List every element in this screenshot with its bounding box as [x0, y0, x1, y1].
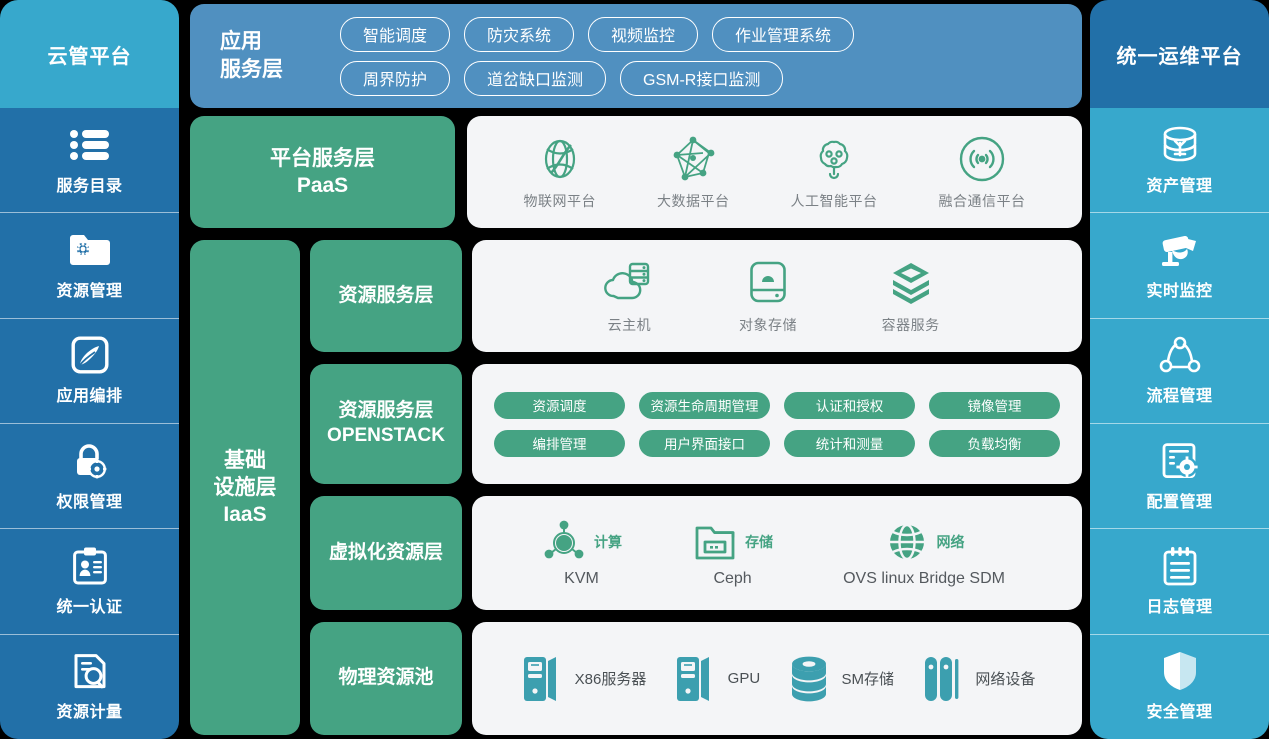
app-title-line1: 应用 [220, 28, 340, 56]
sidebar-item-label: 应用编排 [56, 382, 122, 406]
app-pill-work-management[interactable]: 作业管理系统 [712, 17, 854, 52]
network-device-icon [919, 652, 965, 706]
storage-folder-icon [692, 518, 738, 566]
cctv-camera-icon [1157, 230, 1203, 270]
virtualization-item-name: KVM [564, 570, 599, 588]
openstack-label-line2: OPENSTACK [327, 424, 445, 449]
container-stack-icon [887, 257, 935, 309]
ops-item-label: 流程管理 [1146, 382, 1212, 406]
right-sidebar-title: 统一运维平台 [1090, 0, 1269, 108]
ops-item-config-management[interactable]: 配置管理 [1090, 423, 1269, 528]
document-gear-icon [1160, 441, 1200, 481]
paas-label-line1: 平台服务层 [270, 145, 375, 172]
physical-resource-pool-label: 物理资源池 [310, 622, 462, 735]
openstack-pill-lifecycle-management[interactable]: 资源生命周期管理 [639, 392, 770, 419]
iaas-label-line3: IaaS [214, 501, 277, 528]
app-pill-switch-gap-monitoring[interactable]: 道岔缺口监测 [464, 61, 606, 96]
disk-stack-icon [786, 652, 832, 706]
pen-square-icon [71, 335, 109, 375]
sidebar-item-app-orchestration[interactable]: 应用编排 [0, 318, 179, 423]
iaas-label-line2: 设施层 [214, 474, 277, 501]
openstack-pill-row-1: 资源调度 资源生命周期管理 认证和授权 镜像管理 [494, 392, 1060, 419]
iaas-label-line1: 基础 [214, 447, 277, 474]
sidebar-item-permission-management[interactable]: 权限管理 [0, 423, 179, 528]
ops-item-process-management[interactable]: 流程管理 [1090, 318, 1269, 423]
sidebar-item-resource-management[interactable]: 资源管理 [0, 212, 179, 317]
list-icon [69, 125, 111, 165]
left-sidebar: 云管平台 服务目录 [0, 0, 179, 739]
resource-tile-container-service[interactable]: 容器服务 [882, 257, 940, 335]
openstack-pill-metering[interactable]: 统计和测量 [784, 430, 915, 457]
id-badge-icon [71, 546, 109, 586]
paas-tile-row: 物联网平台 大数据平台 [467, 116, 1082, 228]
sidebar-item-label: 资源计量 [56, 698, 122, 722]
application-service-layer-title: 应用 服务层 [190, 28, 340, 85]
sidebar-item-label: 统一认证 [56, 593, 122, 617]
resource-service-tile-row: 云主机 对象存储 [472, 240, 1082, 352]
resource-tile-cloud-host[interactable]: 云主机 [604, 257, 654, 335]
paas-tile-label: 人工智能平台 [791, 191, 878, 211]
compute-node-icon [541, 518, 587, 566]
openstack-pill-group: 资源调度 资源生命周期管理 认证和授权 镜像管理 编排管理 用户界面接口 统计和… [472, 364, 1082, 484]
resource-tile-object-storage[interactable]: 对象存储 [739, 257, 797, 335]
network-globe-icon [884, 518, 930, 566]
physical-resource-panel: X86服务器 GPU [472, 622, 1082, 735]
center-column: 应用 服务层 智能调度 防灾系统 视频监控 作业管理系统 周界防护 道岔缺口监测… [190, 0, 1082, 739]
folder-gear-icon [68, 230, 112, 270]
physical-item-x86-server[interactable]: X86服务器 [519, 652, 647, 706]
paas-tile-iot[interactable]: 物联网平台 [524, 133, 597, 211]
app-pill-perimeter-protection[interactable]: 周界防护 [340, 61, 450, 96]
cloud-server-icon [604, 257, 654, 309]
sidebar-item-label: 资源管理 [56, 277, 122, 301]
application-pill-row-2: 周界防护 道岔缺口监测 GSM-R接口监测 [340, 61, 1066, 96]
application-pill-row-1: 智能调度 防灾系统 视频监控 作业管理系统 [340, 17, 1066, 52]
app-pill-smart-dispatch[interactable]: 智能调度 [340, 17, 450, 52]
resource-tile-label: 对象存储 [739, 315, 797, 335]
paas-label-line2: PaaS [270, 172, 375, 199]
document-search-icon [71, 651, 109, 691]
left-sidebar-title: 云管平台 [0, 0, 179, 108]
virtualization-panel: 计算 KVM 存储 Ceph [472, 496, 1082, 610]
paas-tile-ai[interactable]: 人工智能平台 [791, 133, 878, 211]
resource-tile-label: 云主机 [608, 315, 652, 335]
openstack-pill-resource-scheduling[interactable]: 资源调度 [494, 392, 625, 419]
paas-tile-communication[interactable]: 融合通信平台 [939, 133, 1026, 211]
app-pill-disaster-prevention[interactable]: 防灾系统 [464, 17, 574, 52]
ops-item-realtime-monitoring[interactable]: 实时监控 [1090, 212, 1269, 317]
ops-item-label: 日志管理 [1146, 593, 1212, 617]
openstack-pill-load-balancing[interactable]: 负载均衡 [929, 430, 1060, 457]
application-pill-group: 智能调度 防灾系统 视频监控 作业管理系统 周界防护 道岔缺口监测 GSM-R接… [340, 17, 1082, 96]
physical-item-row: X86服务器 GPU [472, 622, 1082, 735]
sidebar-item-service-catalog[interactable]: 服务目录 [0, 108, 179, 212]
virtualization-item-name: Ceph [713, 570, 751, 588]
ops-item-label: 配置管理 [1146, 488, 1212, 512]
ops-item-label: 实时监控 [1146, 277, 1212, 301]
iaas-layer-label: 基础 设施层 IaaS [190, 240, 300, 735]
sidebar-item-label: 服务目录 [56, 172, 122, 196]
physical-item-network-device[interactable]: 网络设备 [919, 652, 1035, 706]
virtualization-item-tag: 网络 [937, 532, 965, 552]
physical-item-label: SM存储 [842, 668, 895, 689]
communication-signal-icon [958, 133, 1006, 185]
virtualization-item-row: 计算 KVM 存储 Ceph [472, 496, 1082, 610]
physical-item-gpu[interactable]: GPU [672, 652, 761, 706]
bigdata-network-icon [669, 133, 717, 185]
sidebar-item-unified-auth[interactable]: 统一认证 [0, 528, 179, 633]
application-service-layer: 应用 服务层 智能调度 防灾系统 视频监控 作业管理系统 周界防护 道岔缺口监测… [190, 4, 1082, 108]
openstack-pill-ui-interface[interactable]: 用户界面接口 [639, 430, 770, 457]
virtualization-item-network[interactable]: 网络 OVS linux Bridge SDM [843, 518, 1005, 588]
openstack-label-line1: 资源服务层 [327, 399, 445, 424]
paas-tile-label: 融合通信平台 [939, 191, 1026, 211]
openstack-pill-orchestration[interactable]: 编排管理 [494, 430, 625, 457]
openstack-panel: 资源调度 资源生命周期管理 认证和授权 镜像管理 编排管理 用户界面接口 统计和… [472, 364, 1082, 484]
resource-service-layer-label: 资源服务层 [310, 240, 462, 352]
iot-globe-icon [537, 133, 583, 185]
physical-item-label: GPU [728, 670, 761, 687]
paas-tile-label: 物联网平台 [524, 191, 597, 211]
server-tower-icon [672, 652, 718, 706]
app-pill-gsmr-interface-monitoring[interactable]: GSM-R接口监测 [620, 61, 783, 96]
virtualization-item-tag: 计算 [594, 532, 622, 552]
ops-item-label: 资产管理 [1146, 172, 1212, 196]
physical-item-sm-storage[interactable]: SM存储 [786, 652, 895, 706]
right-sidebar: 统一运维平台 资产管理 [1090, 0, 1269, 739]
physical-item-label: 网络设备 [975, 668, 1035, 689]
app-pill-video-surveillance[interactable]: 视频监控 [588, 17, 698, 52]
object-storage-icon [747, 257, 789, 309]
sidebar-item-resource-metering[interactable]: 资源计量 [0, 634, 179, 739]
physical-item-label: X86服务器 [575, 668, 647, 689]
resource-tile-label: 容器服务 [882, 315, 940, 335]
virtualization-item-head: 存储 [692, 518, 773, 566]
ai-brain-icon [810, 133, 858, 185]
clipboard-lines-icon [1161, 546, 1199, 586]
ops-item-label: 安全管理 [1146, 698, 1212, 722]
resource-service-panel: 云主机 对象存储 [472, 240, 1082, 352]
virtualization-layer-label: 虚拟化资源层 [310, 496, 462, 610]
paas-tile-bigdata[interactable]: 大数据平台 [657, 133, 730, 211]
shield-icon [1162, 651, 1198, 691]
architecture-diagram: 云管平台 服务目录 [0, 0, 1269, 739]
sidebar-item-label: 权限管理 [56, 488, 122, 512]
openstack-pill-image-management[interactable]: 镜像管理 [929, 392, 1060, 419]
paas-layer-label: 平台服务层 PaaS [190, 116, 455, 228]
ops-item-log-management[interactable]: 日志管理 [1090, 528, 1269, 633]
openstack-pill-auth[interactable]: 认证和授权 [784, 392, 915, 419]
openstack-pill-row-2: 编排管理 用户界面接口 统计和测量 负载均衡 [494, 430, 1060, 457]
database-coin-icon [1158, 125, 1202, 165]
app-title-line2: 服务层 [220, 56, 340, 84]
openstack-layer-label: 资源服务层 OPENSTACK [310, 364, 462, 484]
paas-panel: 物联网平台 大数据平台 [467, 116, 1082, 228]
ops-item-asset-management[interactable]: 资产管理 [1090, 108, 1269, 212]
virtualization-item-compute[interactable]: 计算 KVM [541, 518, 622, 588]
paas-tile-label: 大数据平台 [657, 191, 730, 211]
virtualization-item-tag: 存储 [745, 532, 773, 552]
virtualization-item-name: OVS linux Bridge SDM [843, 570, 1005, 588]
virtualization-item-head: 网络 [884, 518, 965, 566]
virtualization-item-storage[interactable]: 存储 Ceph [692, 518, 773, 588]
lock-gear-icon [70, 441, 110, 481]
server-tower-icon [519, 652, 565, 706]
virtualization-item-head: 计算 [541, 518, 622, 566]
flow-nodes-icon [1159, 335, 1201, 375]
ops-item-security-management[interactable]: 安全管理 [1090, 634, 1269, 739]
